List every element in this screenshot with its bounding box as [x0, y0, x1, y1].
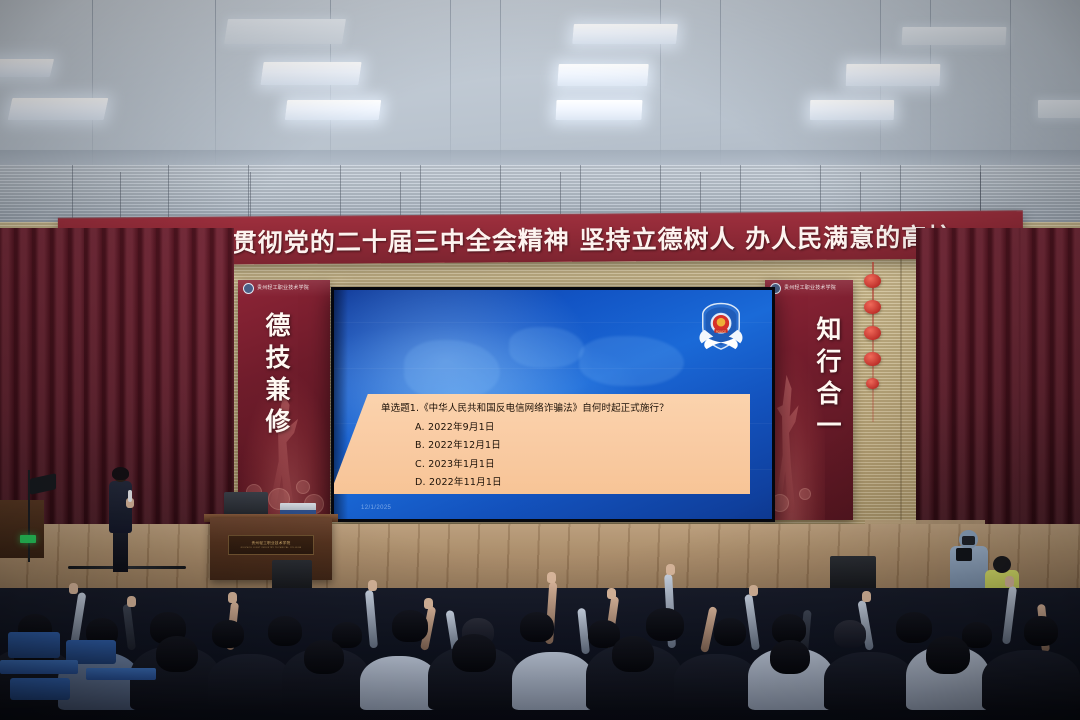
quiz-content-box: 单选题1.《中华人民共和国反电信网络诈骗法》自何时起正式施行？ A. 2022年…	[334, 394, 750, 494]
stage-curtain-right-2	[916, 228, 1020, 528]
raised-hand	[744, 594, 760, 651]
auditorium-chair	[8, 632, 60, 658]
raised-hand	[368, 580, 377, 591]
auditorium-desk	[86, 668, 156, 680]
microphone-icon	[128, 490, 132, 502]
ceiling-light	[0, 59, 54, 77]
police-badge-icon: POLICE	[697, 302, 745, 354]
event-banner-text: 深入学习贯彻党的二十届三中全会精神 坚持立德树人 办人民满意的高校	[128, 217, 954, 259]
audience-head	[612, 636, 654, 672]
podium-plaque-subtext: GUIZHOU LIGHT INDUSTRY TECHNICAL COLLEGE	[241, 547, 302, 549]
raised-hand	[749, 585, 758, 596]
raised-hand	[1002, 586, 1017, 645]
raised-hand	[70, 592, 86, 647]
ceiling-light	[557, 64, 649, 86]
laptop	[224, 492, 268, 516]
lantern-icon	[864, 300, 881, 314]
raised-hand	[127, 596, 136, 607]
quiz-option-a: A. 2022年9月1日	[415, 419, 750, 433]
audience-head	[926, 636, 970, 674]
lantern-icon	[864, 326, 881, 340]
rollup-left-school: 贵州轻工职业技术学院	[257, 285, 309, 291]
ceiling-light	[572, 24, 678, 44]
stage-monitor-speaker	[272, 560, 312, 590]
ceiling-light	[846, 64, 941, 86]
raised-hand	[607, 588, 616, 599]
rollup-banner-left: 贵州轻工职业技术学院 德技兼修	[238, 280, 330, 516]
lantern-icon	[864, 274, 881, 288]
side-table	[0, 500, 44, 558]
ceiling-light	[224, 19, 346, 44]
audience-head	[452, 634, 496, 672]
rollup-left-slogan: 德技兼修	[258, 312, 294, 440]
raised-hand	[547, 572, 556, 583]
audience-head	[156, 636, 198, 672]
auditorium-photo: 深入学习贯彻党的二十届三中全会精神 坚持立德树人 办人民满意的高校 贵州轻工职业…	[0, 0, 1080, 720]
quiz-option-c: C. 2023年1月1日	[415, 456, 750, 470]
podium: 贵州轻工职业技术学院 GUIZHOU LIGHT INDUSTRY TECHNI…	[210, 518, 332, 580]
quiz-option-d: D. 2022年11月1日	[415, 474, 750, 488]
ceiling-light	[260, 62, 361, 85]
audience-person	[982, 650, 1080, 710]
lantern-icon	[864, 352, 881, 366]
audience-head	[714, 618, 746, 646]
audience-person	[360, 656, 438, 710]
audience-head	[212, 620, 244, 648]
ceiling-light	[1038, 100, 1080, 118]
rollup-left-header: 贵州轻工职业技术学院	[238, 280, 330, 297]
audience	[0, 588, 1080, 720]
raised-hand	[1005, 576, 1014, 587]
school-logo-icon	[243, 283, 254, 294]
audience-head	[646, 608, 684, 641]
audience-head	[770, 640, 810, 674]
audience-head	[520, 612, 554, 642]
screen-date-stamp: 12/1/2025	[361, 505, 391, 511]
raised-hand	[862, 591, 871, 602]
audience-head	[1024, 616, 1058, 646]
raised-hand	[228, 592, 237, 603]
exit-sign	[20, 535, 36, 543]
rollup-right-school: 贵州轻工职业技术学院	[784, 285, 836, 291]
auditorium-chair	[10, 678, 70, 700]
stage-curtain-left-2	[84, 228, 234, 546]
stage-curtain-right	[1014, 228, 1080, 528]
ceiling-light	[810, 100, 894, 120]
ceiling-light	[555, 100, 642, 120]
podium-plaque-text: 贵州轻工职业技术学院	[252, 541, 291, 546]
raised-hand	[365, 590, 378, 648]
audience-person	[674, 654, 758, 710]
audience-head	[834, 620, 866, 648]
raised-hand	[666, 564, 675, 575]
quiz-option-b: B. 2022年12月1日	[415, 437, 750, 451]
podium-plaque: 贵州轻工职业技术学院 GUIZHOU LIGHT INDUSTRY TECHNI…	[228, 535, 314, 555]
raised-hand	[122, 604, 136, 651]
ceiling-light	[8, 98, 109, 120]
led-screen: POLICE 单选题1.《中华人民共和国反电信网络诈骗法》自何时起正式施行？ A…	[334, 290, 772, 519]
police-officer-speaker	[108, 468, 134, 572]
auditorium-desk	[0, 660, 78, 674]
audience-person	[824, 652, 914, 710]
audience-head	[392, 610, 428, 642]
svg-text:POLICE: POLICE	[716, 329, 726, 333]
rollup-right-header: 贵州轻工职业技术学院	[765, 280, 853, 297]
rollup-banner-right: 贵州轻工职业技术学院 知行合一	[765, 280, 853, 520]
raised-hand	[69, 583, 78, 594]
stage-floor	[0, 524, 1080, 594]
led-screen-frame: POLICE 单选题1.《中华人民共和国反电信网络诈骗法》自何时起正式施行？ A…	[331, 287, 775, 522]
camera-icon	[956, 548, 972, 561]
rollup-right-slogan: 知行合一	[809, 316, 845, 444]
ceiling-light	[285, 100, 381, 120]
audience-head	[896, 612, 932, 643]
raised-hand	[424, 598, 433, 609]
stage-speaker-right	[830, 556, 876, 590]
audience-person	[208, 654, 292, 710]
audience-person	[512, 652, 594, 710]
lantern-icon	[866, 378, 879, 389]
audience-head	[268, 616, 302, 646]
audience-head	[304, 640, 344, 674]
quiz-question: 单选题1.《中华人民共和国反电信网络诈骗法》自何时起正式施行？	[381, 400, 750, 414]
ceiling-light	[902, 27, 1007, 45]
